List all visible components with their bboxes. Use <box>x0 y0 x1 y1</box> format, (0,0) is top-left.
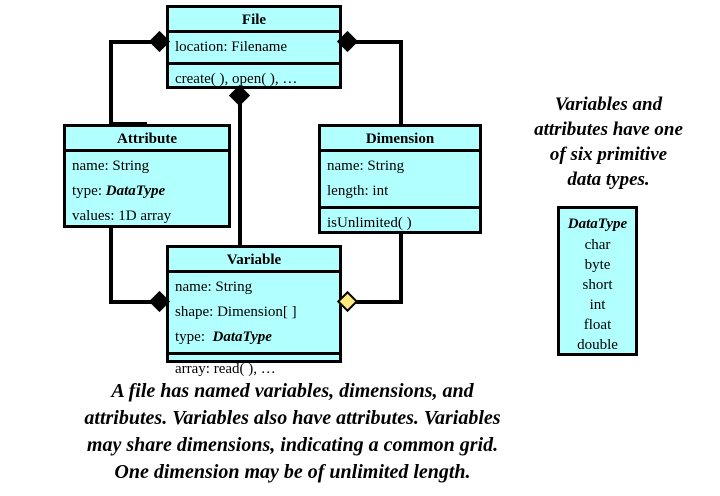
operations-compartment-dimension: isUnlimited( ) <box>321 209 479 238</box>
datatype-reference: DataType <box>106 183 165 199</box>
attribute-row: name: String <box>327 154 479 179</box>
attributes-compartment-variable: name: String shape: Dimension[ ] type: D… <box>169 273 339 355</box>
enumeration-box-datatype[interactable]: DataType char byte short int float doubl… <box>557 206 638 356</box>
enumeration-value: double <box>560 335 635 355</box>
caption-line: attributes have one <box>506 117 711 142</box>
connector-file-attribute-vertical <box>109 40 113 126</box>
connector-file-variable-vertical <box>238 95 242 247</box>
connector-attribute-variable-vertical <box>109 226 113 304</box>
class-name-dimension: Dimension <box>321 127 479 152</box>
enumeration-name-datatype: DataType <box>560 209 635 235</box>
caption-line: data types. <box>506 167 711 192</box>
class-name-attribute: Attribute <box>66 127 228 152</box>
attribute-row: type: DataType <box>72 179 228 204</box>
caption-line: attributes. Variables also have attribut… <box>20 405 565 432</box>
caption-line: One dimension may be of unlimited length… <box>20 459 565 486</box>
attribute-row: values: 1D array <box>72 204 228 229</box>
attribute-row: name: String <box>175 275 339 300</box>
attribute-row: location: Filename <box>175 35 339 60</box>
uml-class-diagram: File location: Filename create( ), open(… <box>0 0 720 496</box>
attribute-row-label: type: <box>72 183 102 199</box>
caption-line: may share dimensions, indicating a commo… <box>20 432 565 459</box>
enumeration-value: char <box>560 235 635 255</box>
attribute-row: type: DataType <box>175 325 339 350</box>
class-name-file: File <box>169 8 339 33</box>
attribute-row: name: String <box>72 154 228 179</box>
class-box-variable[interactable]: Variable name: String shape: Dimension[ … <box>166 245 342 363</box>
class-name-variable: Variable <box>169 248 339 273</box>
attributes-compartment-dimension: name: String length: int <box>321 152 479 209</box>
operation-row: array: read( ), … <box>175 357 339 382</box>
enumeration-value: int <box>560 295 635 315</box>
caption-model-description: A file has named variables, dimensions, … <box>20 378 565 486</box>
class-box-file[interactable]: File location: Filename create( ), open(… <box>166 5 342 89</box>
attribute-row: length: int <box>327 179 479 204</box>
enumeration-value: short <box>560 275 635 295</box>
operations-compartment-variable: array: read( ), … <box>169 355 339 384</box>
attributes-compartment-attribute: name: String type: DataType values: 1D a… <box>66 152 228 231</box>
enumeration-value: byte <box>560 255 635 275</box>
operations-compartment-file: create( ), open( ), … <box>169 65 339 94</box>
operation-row: create( ), open( ), … <box>175 67 339 92</box>
enumeration-value: float <box>560 315 635 335</box>
attribute-row: shape: Dimension[ ] <box>175 300 339 325</box>
connector-file-dimension-vertical <box>399 40 403 126</box>
operation-row: isUnlimited( ) <box>327 211 479 236</box>
class-box-dimension[interactable]: Dimension name: String length: int isUnl… <box>318 124 482 234</box>
datatype-reference: DataType <box>213 329 272 345</box>
connector-variable-dimension-vertical <box>399 232 403 304</box>
attribute-row-label: type: <box>175 329 205 345</box>
caption-datatype-note: Variables and attributes have one of six… <box>506 92 711 192</box>
attributes-compartment-file: location: Filename <box>169 33 339 65</box>
class-box-attribute[interactable]: Attribute name: String type: DataType va… <box>63 124 231 228</box>
caption-line: Variables and <box>506 92 711 117</box>
caption-line: of six primitive <box>506 142 711 167</box>
